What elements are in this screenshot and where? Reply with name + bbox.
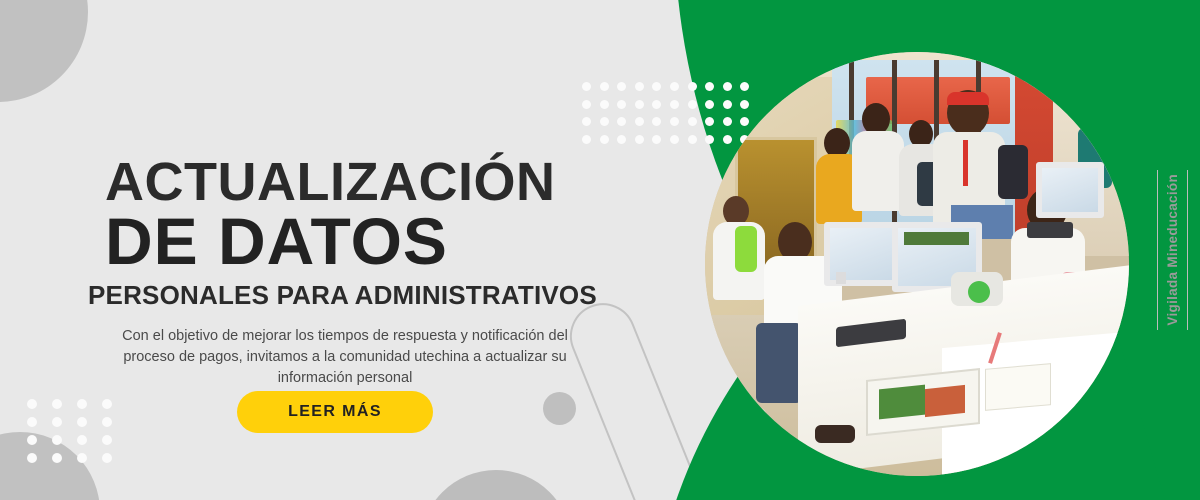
dot xyxy=(688,135,697,144)
photo-shoe xyxy=(815,425,855,443)
photo-illustration xyxy=(705,52,1129,476)
dot xyxy=(635,100,644,109)
dot xyxy=(652,135,661,144)
headline-line-2: DE DATOS xyxy=(105,208,585,274)
photo-monitor xyxy=(1036,162,1104,218)
subheadline: PERSONALES PARA ADMINISTRATIVOS xyxy=(88,281,608,310)
dot xyxy=(688,100,697,109)
photo-brochure-image xyxy=(879,385,925,420)
photo-lanyard xyxy=(963,140,968,186)
dot xyxy=(670,82,679,91)
banner-text-column: ACTUALIZACIÓN DE DATOS PERSONALES PARA A… xyxy=(0,0,620,500)
headline-line-1: ACTUALIZACIÓN xyxy=(105,155,585,209)
photo-person-standing xyxy=(862,103,904,211)
banner-paragraph: Con el objetivo de mejorar los tiempos d… xyxy=(110,326,580,389)
hero-photo-circle xyxy=(705,52,1129,476)
dot xyxy=(635,82,644,91)
photo-form-paper xyxy=(985,363,1051,411)
photo-bag-logo xyxy=(968,281,990,303)
photo-red-headband xyxy=(947,92,989,105)
promotional-banner: ACTUALIZACIÓN DE DATOS PERSONALES PARA A… xyxy=(0,0,1200,500)
dot xyxy=(670,117,679,126)
dot xyxy=(670,100,679,109)
photo-monitor-stand xyxy=(836,272,846,284)
photo-brochure-image xyxy=(925,385,965,417)
dot xyxy=(688,117,697,126)
dot xyxy=(635,117,644,126)
dot xyxy=(652,82,661,91)
photo-backpack xyxy=(998,145,1028,199)
photo-shoe xyxy=(730,408,766,422)
dot xyxy=(670,135,679,144)
vigilada-label: Vigilada Mineducación xyxy=(1158,174,1187,326)
dot xyxy=(635,135,644,144)
photo-person-vest xyxy=(709,226,757,272)
dot xyxy=(652,117,661,126)
photo-keyboard xyxy=(1027,222,1073,238)
leer-mas-button[interactable]: LEER MÁS xyxy=(237,391,433,433)
photo-chair xyxy=(756,323,802,403)
dot xyxy=(652,100,661,109)
vigilada-mineducacion: Vigilada Mineducación xyxy=(1157,170,1188,330)
dot xyxy=(688,82,697,91)
vigilada-rule-right xyxy=(1187,170,1188,330)
